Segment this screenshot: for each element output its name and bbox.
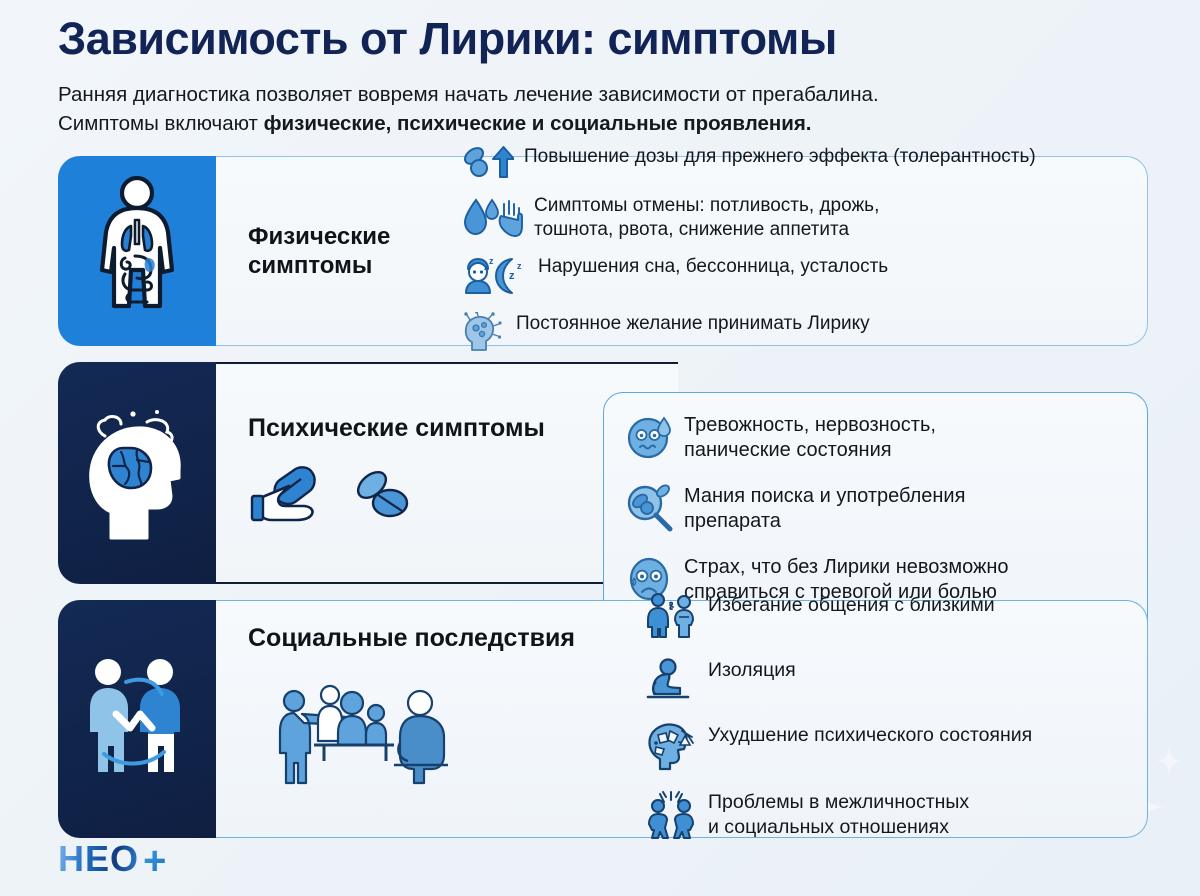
list-item-text-line2: препарата [684, 510, 781, 532]
list-item-text-line1: Проблемы в межличностных [708, 791, 969, 813]
list-item[interactable]: Избегание общения с близкими [646, 593, 1127, 644]
deteriorating-mind-head-icon [646, 723, 698, 776]
list-item[interactable]: Проблемы в межличностных и социальных от… [646, 790, 1127, 845]
person-sitting-alone-icon [646, 658, 698, 709]
conflict-two-people-icon [646, 790, 698, 845]
list-item-text: Ухудшение психического состояния [708, 723, 1032, 748]
list-item-text-line1: Страх, что без Лирики невозможно [684, 556, 1009, 578]
list-item[interactable]: Изоляция [646, 658, 1127, 709]
svg-text:z: z [484, 265, 488, 272]
subtitle-line-1: Ранняя диагностика позволяет вовремя нач… [58, 81, 1148, 109]
list-item-text: Избегание общения с близкими [708, 593, 995, 618]
physical-heading: Физические симптомы [248, 222, 448, 281]
physical-symptom-list: Повышение дозы для прежнего эффекта (тол… [462, 141, 1036, 361]
sleepless-face-moon-icon: z z z z [462, 255, 528, 302]
list-item-text: Тревожность, нервозность, панические сос… [684, 413, 936, 464]
head-brain-icon [81, 400, 193, 545]
mental-icon-panel [58, 362, 216, 584]
page-subtitle: Ранняя диагностика позволяет вовремя нач… [58, 81, 1148, 138]
page-header: Зависимость от Лирики: симптомы Ранняя д… [0, 0, 1200, 138]
anxious-sweating-face-icon [626, 413, 674, 466]
svg-text:z: z [517, 261, 522, 271]
logo-text: НЕО [58, 838, 139, 880]
social-consequence-list: Избегание общения с близкими [646, 601, 1147, 837]
list-item-text: Нарушения сна, бессонница, усталость [538, 255, 888, 279]
physical-heading-line1: Физические [248, 222, 448, 251]
pills-cluster-icon [352, 467, 416, 530]
list-item-text: Повышение дозы для прежнего эффекта (тол… [524, 145, 1036, 169]
list-item[interactable]: z z z z Нарушения сна, бессонница, устал… [462, 255, 1036, 302]
list-item-text: Симптомы отмены: потливость, дрожь, тошн… [534, 194, 879, 242]
human-body-organs-icon [91, 174, 183, 327]
avoiding-people-icon [646, 593, 698, 644]
physical-icon-panel [58, 156, 216, 346]
list-item[interactable]: Повышение дозы для прежнего эффекта (тол… [462, 145, 1036, 184]
subtitle-line-2: Симптомы включают физические, психически… [58, 110, 1148, 138]
physical-card-body: Физические симптомы Повышение д [216, 156, 1148, 346]
social-card-body: Социальные последствия [216, 600, 1148, 838]
svg-text:z: z [509, 270, 515, 282]
list-item-text-line2: и социальных отношениях [708, 816, 949, 838]
list-item-text: Мания поиска и употребления препарата [684, 484, 965, 535]
card-social-consequences[interactable]: Социальные последствия [58, 600, 1148, 838]
cards-container: Физические симптомы Повышение д [0, 156, 1200, 838]
list-item[interactable]: Постоянное желание принимать Лирику [462, 312, 1036, 357]
svg-text:z: z [489, 256, 494, 266]
list-item-text: Изоляция [708, 658, 796, 683]
card-mental-symptoms[interactable]: Психические симптомы [58, 362, 1148, 584]
card-physical-symptoms[interactable]: Физические симптомы Повышение д [58, 156, 1148, 346]
brand-logo: НЕО + [58, 838, 166, 880]
physical-heading-line2: симптомы [248, 251, 448, 280]
mental-decor-icons [248, 464, 416, 533]
list-item-text-line1: Тревожность, нервозность, [684, 414, 936, 436]
list-item[interactable]: Ухудшение психического состояния [646, 723, 1127, 776]
social-heading: Социальные последствия [248, 623, 646, 654]
hand-with-capsule-icon [248, 464, 326, 533]
social-icon-panel [58, 600, 216, 838]
magnifier-pills-search-icon [626, 484, 674, 537]
family-group-isolation-icon [268, 679, 468, 796]
mental-heading: Психические симптомы [248, 413, 545, 444]
list-item-text-line2: тошнота, рвота, снижение аппетита [534, 219, 849, 240]
two-people-broken-bond-icon [82, 656, 192, 781]
list-item-text: Постоянное желание принимать Лирику [516, 312, 870, 336]
page-title: Зависимость от Лирики: симптомы [58, 14, 1148, 64]
list-item-text-line1: Мания поиска и употребления [684, 485, 965, 507]
craving-head-icon [462, 312, 506, 357]
social-left-area: Социальные последствия [216, 601, 646, 837]
list-item-text: Проблемы в межличностных и социальных от… [708, 790, 969, 840]
pills-up-arrow-icon [462, 145, 514, 184]
list-item[interactable]: Мания поиска и употребления препарата [626, 484, 1129, 537]
list-item-text-line1: Симптомы отмены: потливость, дрожь, [534, 195, 879, 216]
logo-plus-icon: + [143, 843, 166, 880]
sweat-drops-trembling-hand-icon [462, 194, 524, 245]
list-item[interactable]: Симптомы отмены: потливость, дрожь, тошн… [462, 194, 1036, 245]
list-item[interactable]: Тревожность, нервозность, панические сос… [626, 413, 1129, 466]
subtitle-line-2-prefix: Симптомы включают [58, 112, 264, 135]
list-item-text-line2: панические состояния [684, 439, 892, 461]
subtitle-line-2-bold: физические, психические и социальные про… [264, 112, 812, 135]
